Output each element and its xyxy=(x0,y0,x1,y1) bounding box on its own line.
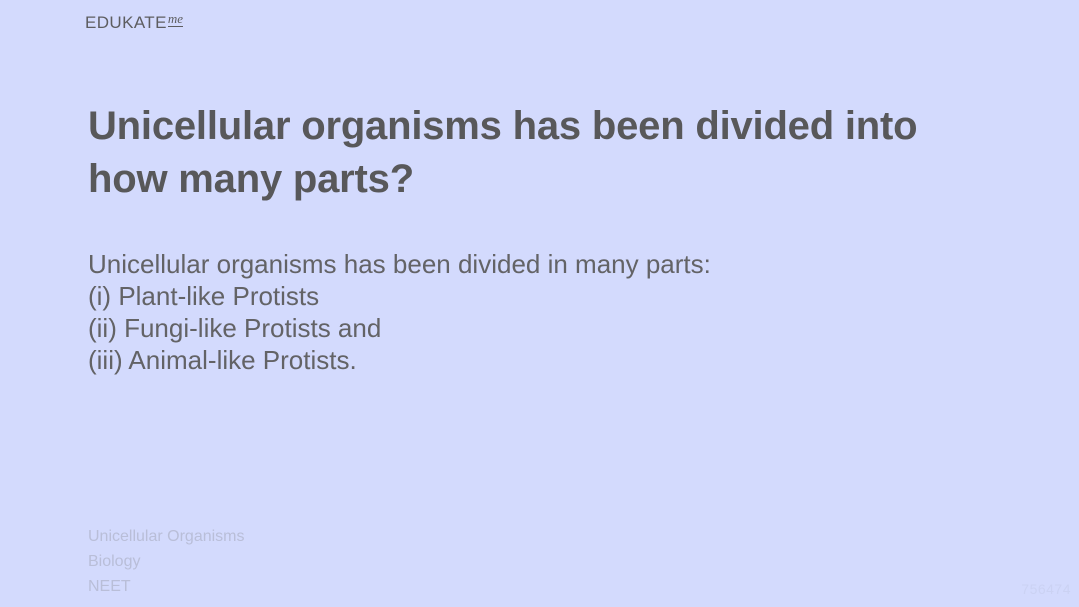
footer-meta: Unicellular Organisms Biology NEET xyxy=(88,524,588,599)
footer-exam: NEET xyxy=(88,574,588,599)
answer-line: (ii) Fungi-like Protists and xyxy=(88,312,988,344)
answer-line: (i) Plant-like Protists xyxy=(88,280,988,312)
brand-logo: EDUKATE me xyxy=(85,14,183,31)
slide-title: Unicellular organisms has been divided i… xyxy=(88,100,998,206)
answer-body: Unicellular organisms has been divided i… xyxy=(88,248,988,376)
answer-line: Unicellular organisms has been divided i… xyxy=(88,248,988,280)
footer-topic: Unicellular Organisms xyxy=(88,524,588,549)
brand-suffix: me xyxy=(168,12,183,27)
brand-name: EDUKATE xyxy=(85,14,167,31)
answer-line: (iii) Animal-like Protists. xyxy=(88,344,988,376)
footer-subject: Biology xyxy=(88,549,588,574)
slide-canvas: EDUKATE me Unicellular organisms has bee… xyxy=(0,0,1079,607)
watermark-id: 756474 xyxy=(1021,581,1071,597)
